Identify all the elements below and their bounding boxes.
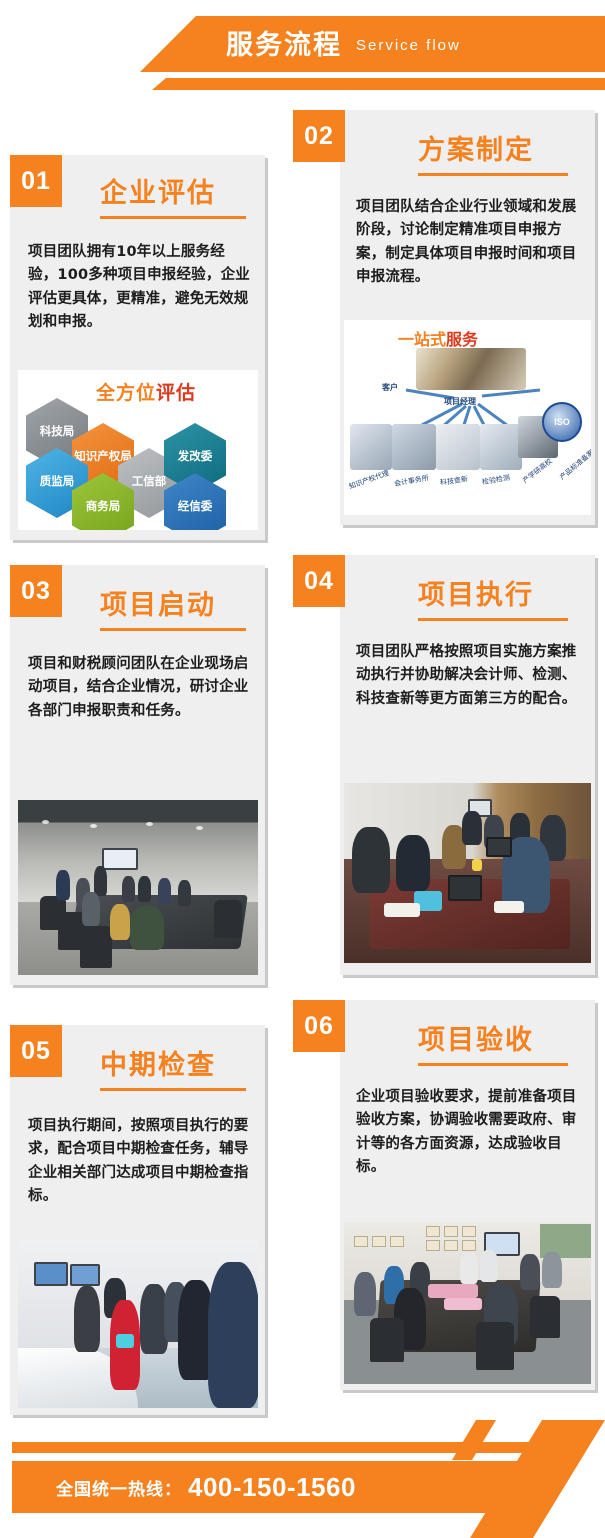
step-description: 项目执行期间，按照项目执行的要求，配合项目中期检查任务，辅导企业相关部门达成项目… <box>28 1115 250 1209</box>
laptop <box>448 875 482 901</box>
step-photo-site-visit <box>18 1240 258 1408</box>
certificate-frame <box>426 1226 440 1237</box>
page-header: 服务流程 Service flow <box>0 0 605 104</box>
brochure <box>116 1334 134 1348</box>
title-underline <box>418 173 568 176</box>
photo-scene <box>344 783 591 963</box>
step-description: 项目团队拥有10年以上服务经验，100多种项目申报经验，企业评估更具体，更精准，… <box>28 241 250 335</box>
step-number-badge: 06 <box>293 1000 345 1052</box>
person <box>138 876 151 902</box>
person <box>462 811 482 845</box>
chair <box>214 900 242 938</box>
hotline-label: 全国统一热线： <box>56 1475 182 1500</box>
step-title-text: 项目启动 <box>100 590 216 620</box>
person <box>396 835 430 891</box>
ceiling-light <box>146 822 153 826</box>
hex-label: 科技局 <box>40 426 75 439</box>
step-description: 项目和财税顾问团队在企业现场启动项目，结合企业情况，研讨企业各部门申报职责和任务… <box>28 653 250 723</box>
step-number-badge: 05 <box>10 1025 62 1077</box>
hex-label: 工信部 <box>132 476 167 489</box>
person <box>178 880 191 906</box>
person <box>110 904 130 940</box>
person <box>158 878 171 904</box>
certificate-frame <box>444 1240 458 1251</box>
title-underline <box>418 1063 568 1066</box>
photo-scene <box>344 1222 591 1384</box>
page-title: 服务流程 Service flow <box>226 22 461 68</box>
step-title: 项目验收 <box>418 1018 568 1066</box>
paper <box>384 903 420 917</box>
heading-part-2: 评估 <box>156 383 196 404</box>
assessment-hexagon-diagram: 全方位评估 科技局 知识产权局 质监局 工信部 商务局 发改委 经信委 <box>18 370 258 530</box>
step-title-text: 项目验收 <box>418 1025 534 1055</box>
step-photo-acceptance-meeting <box>344 1222 591 1384</box>
thumb-tech-search <box>436 424 480 470</box>
person <box>520 1254 540 1290</box>
step-number-badge: 02 <box>293 110 345 162</box>
desk-item <box>472 859 482 871</box>
step-title: 中期检查 <box>100 1043 246 1091</box>
step-title: 企业评估 <box>100 171 246 219</box>
hex-label: 发改委 <box>178 451 213 464</box>
thumb-inspection <box>480 424 522 470</box>
flowers <box>428 1284 478 1298</box>
certificate-frame <box>462 1226 476 1237</box>
step-title-text: 企业评估 <box>100 178 216 208</box>
certificate-frame <box>444 1226 458 1237</box>
step-title-text: 中期检查 <box>100 1050 216 1080</box>
page-title-en: Service flow <box>356 38 461 53</box>
person <box>122 876 135 902</box>
hex-label: 质监局 <box>40 476 75 489</box>
step-card-06: 06 项目验收 企业项目验收要求，提前准备项目验收方案，协调验收需要政府、审计等… <box>340 1000 595 1390</box>
seal-label: ISO <box>554 417 570 427</box>
step-title-text: 方案制定 <box>418 135 534 165</box>
laptop <box>486 837 512 857</box>
ceiling-light <box>90 824 97 828</box>
page-footer: 全国统一热线： 400-150-1560 <box>0 1420 605 1538</box>
certificate-frame <box>462 1240 476 1251</box>
photo-scene <box>18 800 258 975</box>
title-underline <box>100 216 246 219</box>
iso-seal-icon: ISO <box>542 402 582 442</box>
person <box>56 870 70 900</box>
step-number-badge: 01 <box>10 155 62 207</box>
footer-diagonal-shape-small <box>452 1420 532 1460</box>
flowers <box>444 1298 482 1310</box>
hexagon-diagram-heading: 全方位评估 <box>96 378 196 405</box>
hex-label: 经信委 <box>178 501 213 514</box>
certificate-frame <box>372 1236 386 1247</box>
step-description: 企业项目验收要求，提前准备项目验收方案，协调验收需要政府、审计等的各方面资源，达… <box>356 1086 582 1180</box>
paper <box>494 901 524 913</box>
hotline-number[interactable]: 400-150-1560 <box>188 1472 356 1503</box>
person <box>460 1252 478 1284</box>
title-underline <box>100 1088 246 1091</box>
step-description: 项目团队严格按照项目实施方案推动执行并协助解决会计师、检测、科技查新等更方面第三… <box>356 641 582 711</box>
step-card-01: 01 企业评估 项目团队拥有10年以上服务经验，100多种项目申报经验，企业评估… <box>10 155 265 540</box>
step-title-text: 项目执行 <box>418 580 534 610</box>
person <box>352 827 390 893</box>
step-card-02: 02 方案制定 项目团队结合企业行业领域和发展阶段，讨论制定精准项目申报方案，制… <box>340 110 595 525</box>
photo-scene <box>18 1240 258 1408</box>
step-description: 项目团队结合企业行业领域和发展阶段，讨论制定精准项目申报方案，制定具体项目申报时… <box>356 196 582 290</box>
step-title: 方案制定 <box>418 128 568 176</box>
thumb-accounting <box>392 424 436 470</box>
step-title: 项目执行 <box>418 573 568 621</box>
header-accent-stripe <box>152 78 605 90</box>
hotline: 全国统一热线： 400-150-1560 <box>56 1461 356 1513</box>
heading-part-1: 全方位 <box>96 383 156 404</box>
person <box>354 1272 376 1316</box>
wall-display <box>34 1262 68 1286</box>
chair <box>370 1318 404 1362</box>
person-foreground <box>208 1262 258 1408</box>
person <box>542 1252 562 1288</box>
person <box>130 906 164 950</box>
step-photo-execution-meeting <box>344 783 591 963</box>
node-project-manager: 项目经理 <box>444 396 476 407</box>
certificate-frame <box>354 1236 368 1247</box>
chair <box>80 926 112 968</box>
step-number-badge: 04 <box>293 555 345 607</box>
person <box>74 1286 100 1352</box>
footer-accent-stripe <box>12 1442 579 1453</box>
step-photo-kickoff-meeting <box>18 800 258 975</box>
title-underline <box>418 618 568 621</box>
ceiling-light <box>42 820 49 824</box>
node-customer: 客户 <box>382 382 398 393</box>
step-title: 项目启动 <box>100 583 246 631</box>
ceiling-light <box>196 826 203 830</box>
person <box>94 866 107 896</box>
certificate-frame <box>390 1236 404 1247</box>
thumb-ip-agency <box>350 424 392 470</box>
person <box>480 1250 498 1282</box>
hex-label: 商务局 <box>86 501 121 514</box>
one-stop-service-diagram: 一站式服务 客户 项目经理 ISO 知识产权代理 会计事务所 科技查新 检验 <box>344 320 591 515</box>
wall-display <box>70 1264 100 1286</box>
chair <box>530 1296 560 1338</box>
whiteboard <box>102 848 138 870</box>
step-card-03: 03 项目启动 项目和财税顾问团队在企业现场启动项目，结合企业情况，研讨企业各部… <box>10 565 265 985</box>
chair <box>476 1322 514 1370</box>
step-card-05: 05 中期检查 项目执行期间，按照项目执行的要求，配合项目中期检查任务，辅导企业… <box>10 1025 265 1415</box>
person <box>82 892 100 926</box>
title-underline <box>100 628 246 631</box>
page-title-cn: 服务流程 <box>226 32 342 59</box>
certificate-frame <box>426 1240 440 1251</box>
step-number-badge: 03 <box>10 565 62 617</box>
step-card-04: 04 项目执行 项目团队严格按照项目实施方案推动执行并协助解决会计师、检测、科技… <box>340 555 595 975</box>
